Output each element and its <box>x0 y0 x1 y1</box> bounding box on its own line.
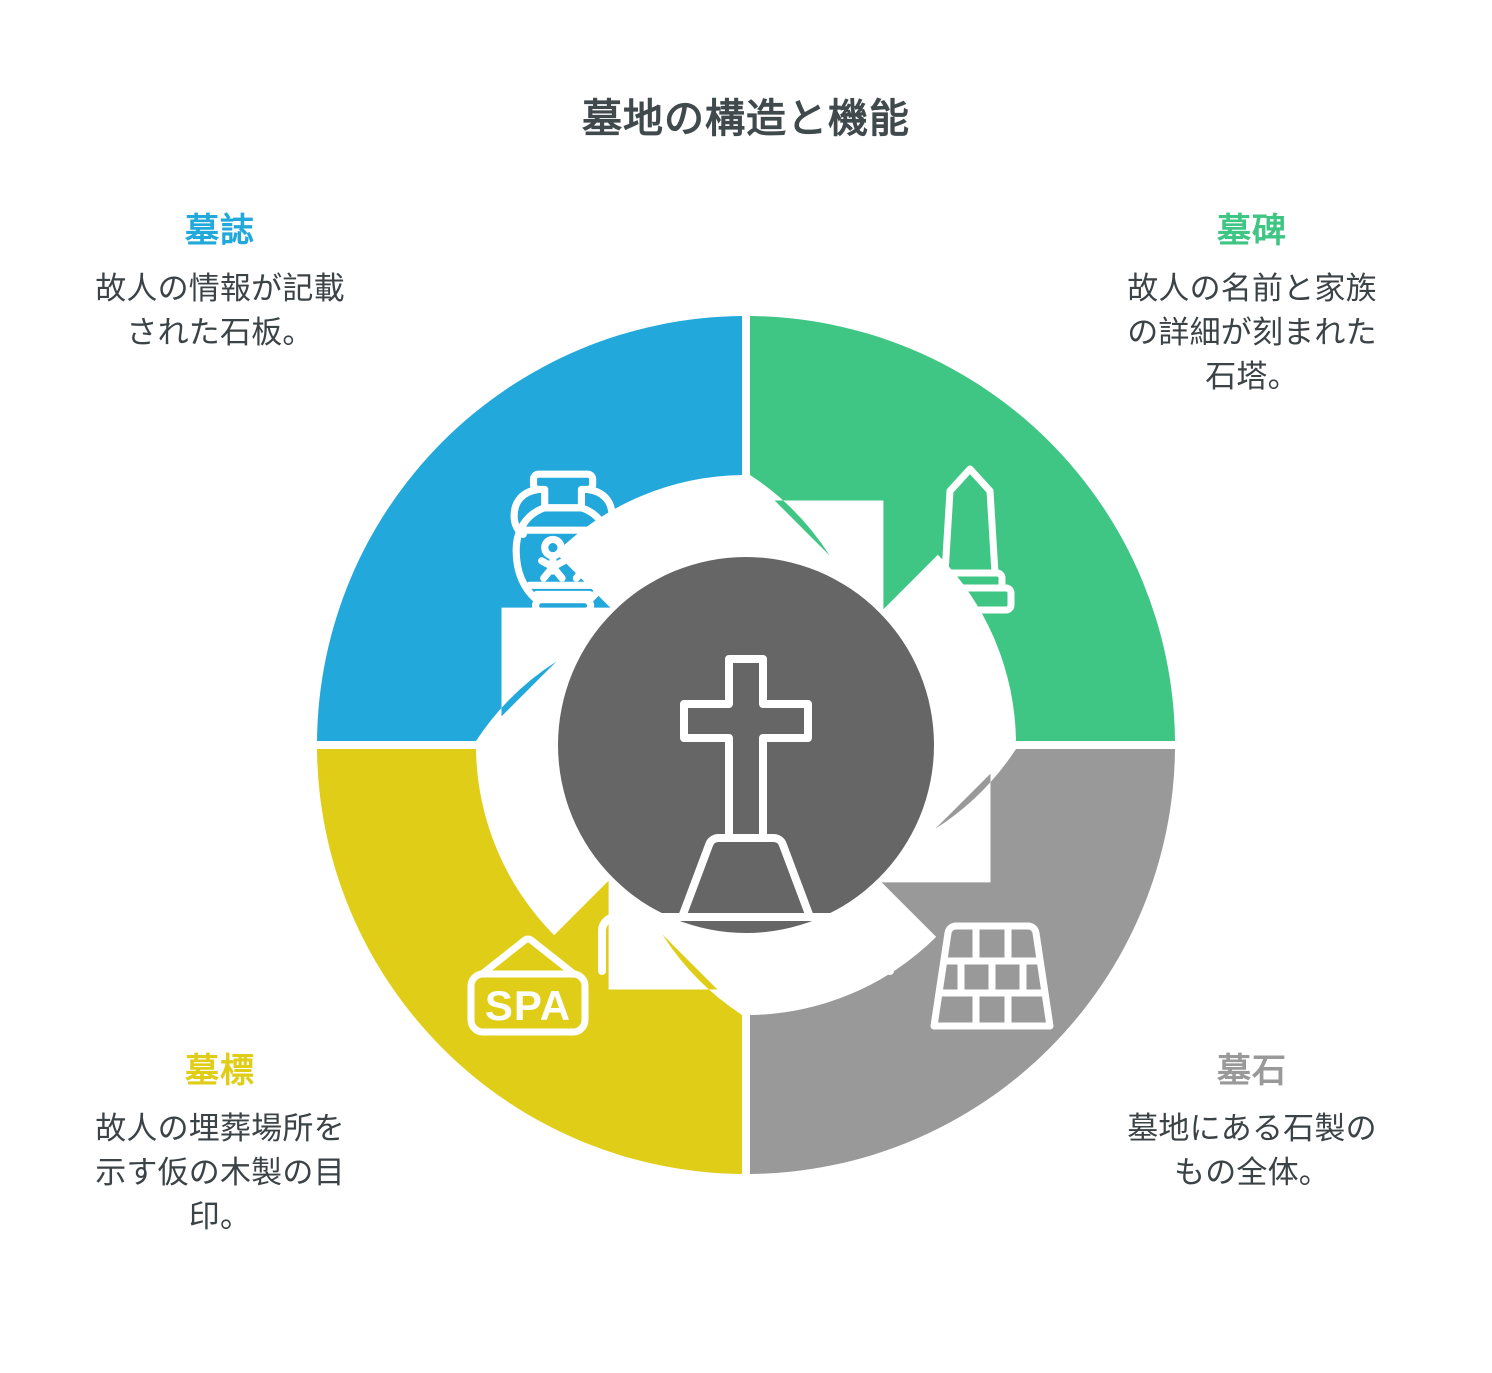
callout-label-tombstone: 墓碑 <box>1072 210 1432 253</box>
callout-description-grave-marker: 故人の埋葬場所を 示す仮の木製の目 印。 <box>40 1107 400 1239</box>
callout-description-tombstone: 故人の名前と家族 の詳細が刻まれた 石塔。 <box>1072 267 1432 399</box>
callout-tombstone: 墓碑 故人の名前と家族 の詳細が刻まれた 石塔。 <box>1072 210 1432 399</box>
infographic-canvas: 墓地の構造と機能 <box>0 0 1492 1373</box>
donut-chart: SPA <box>317 316 1175 1174</box>
callout-label-epitaph: 墓誌 <box>40 210 400 253</box>
donut-svg: SPA <box>317 316 1175 1174</box>
callout-label-gravestone: 墓石 <box>1072 1050 1432 1093</box>
donut-hub[interactable] <box>558 557 934 933</box>
callout-description-epitaph: 故人の情報が記載 された石板。 <box>40 267 400 355</box>
hanging-sign-label: SPA <box>485 982 571 1029</box>
page-title: 墓地の構造と機能 <box>0 95 1492 143</box>
callout-label-grave-marker: 墓標 <box>40 1050 400 1093</box>
callout-gravestone: 墓石 墓地にある石製の もの全体。 <box>1072 1050 1432 1195</box>
callout-epitaph: 墓誌 故人の情報が記載 された石板。 <box>40 210 400 355</box>
callout-description-gravestone: 墓地にある石製の もの全体。 <box>1072 1107 1432 1195</box>
callout-grave-marker: 墓標 故人の埋葬場所を 示す仮の木製の目 印。 <box>40 1050 400 1239</box>
